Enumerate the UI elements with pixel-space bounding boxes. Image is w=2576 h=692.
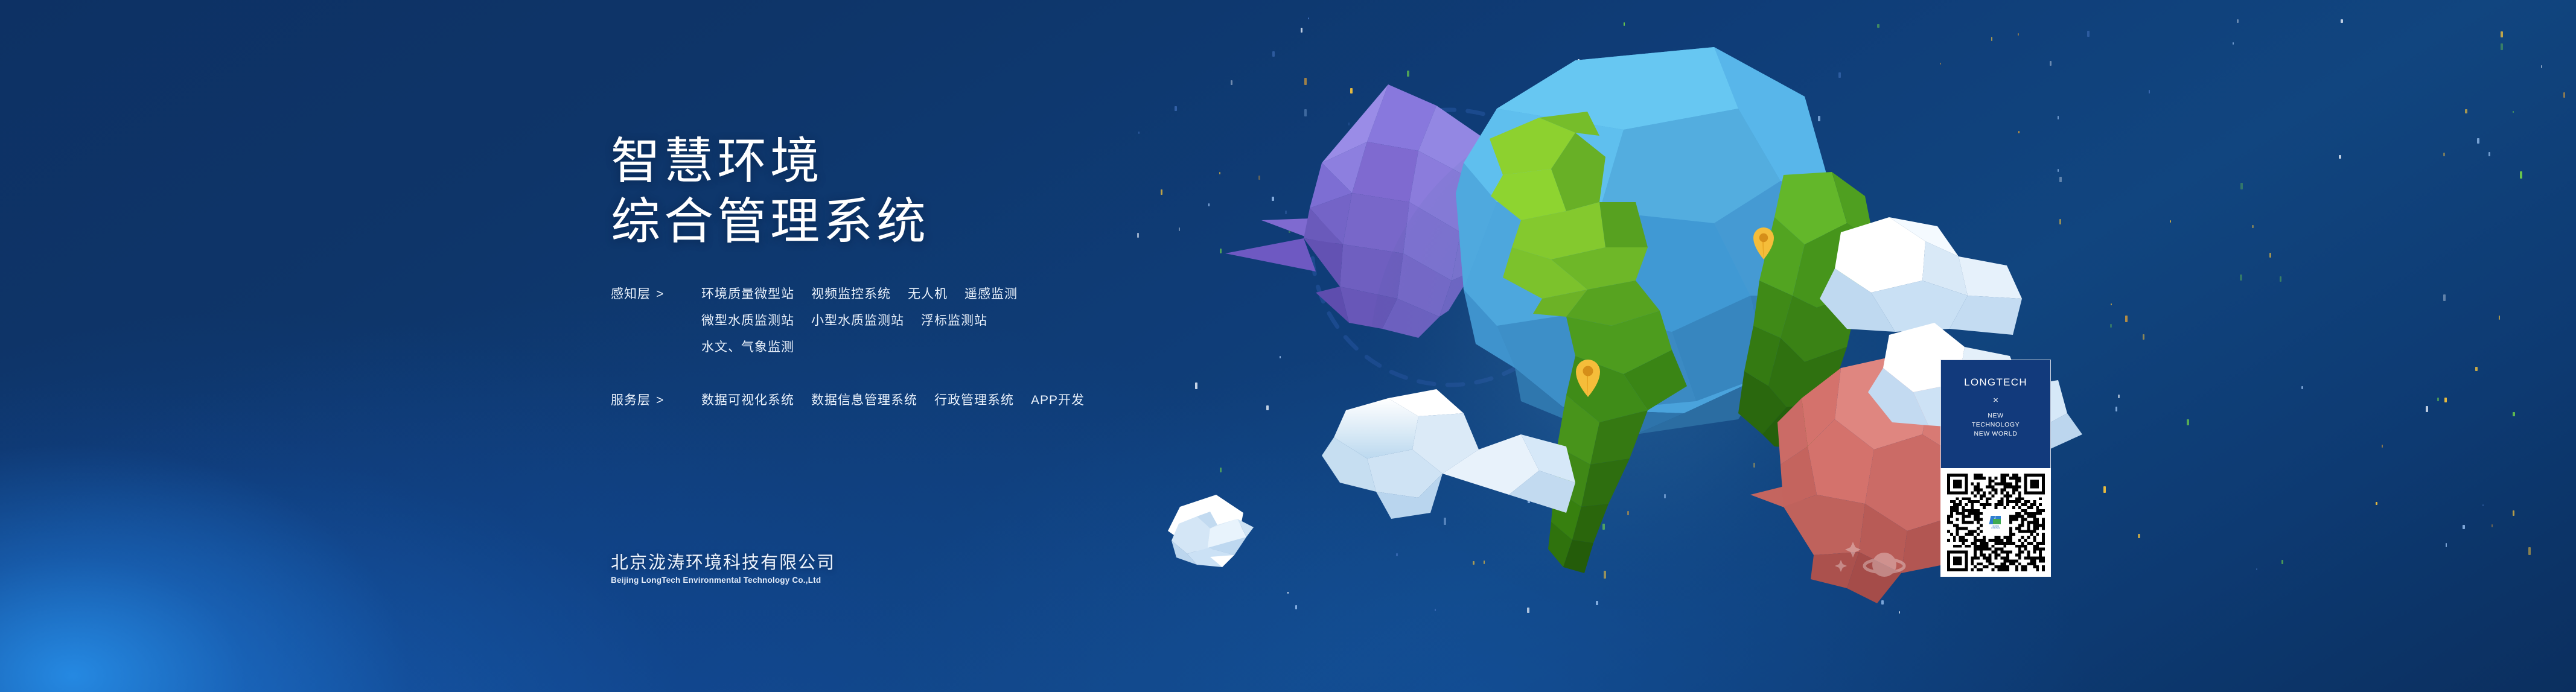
cloud-floating [1150, 500, 1301, 584]
star-particle [2443, 294, 2446, 301]
brand-name: LONGTECH [1964, 376, 2027, 389]
page-title: 智慧环境 综合管理系统 [611, 132, 1456, 252]
qr-code-image[interactable]: 泷涛环境 LONGTECH [1947, 474, 2045, 571]
layer-row: 服务层>数据可视化系统数据信息管理系统行政管理系统APP开发 [611, 391, 1456, 410]
star-particle [1624, 22, 1625, 26]
title-line-2: 综合管理系统 [611, 192, 1456, 252]
layer-item-line: 水文、气象监测 [701, 338, 1018, 357]
title-line-1: 智慧环境 [611, 132, 1456, 192]
star-particle [1991, 37, 1992, 41]
star-particle [2382, 445, 2383, 448]
layer-item[interactable]: 数据信息管理系统 [811, 391, 917, 410]
layer-key-label: 服务层 [611, 393, 651, 407]
star-particle [1308, 17, 1309, 19]
layer-items: 数据可视化系统数据信息管理系统行政管理系统APP开发 [701, 391, 1085, 410]
chevron-right-icon: > [656, 287, 664, 301]
company-name-en: Beijing LongTech Environmental Technolog… [611, 576, 835, 585]
star-particle [1877, 24, 1879, 28]
brand-tagline: NEW TECHNOLOGY NEW WORLD [1972, 411, 2020, 439]
layer-item[interactable]: 环境质量微型站 [701, 285, 794, 304]
qr-card-header: LONGTECH × NEW TECHNOLOGY NEW WORLD [1940, 360, 2051, 468]
layer-item[interactable]: 数据可视化系统 [701, 391, 794, 410]
star-particle [1220, 468, 1222, 472]
star-particle [2240, 275, 2242, 281]
star-particle [2501, 43, 2503, 50]
cloud-right-upper [1820, 217, 2022, 335]
star-particle [2499, 316, 2500, 320]
star-particle [2269, 253, 2271, 258]
star-particle [2477, 138, 2479, 144]
star-particle [2125, 316, 2128, 322]
layer-items: 环境质量微型站视频监控系统无人机遥感监测微型水质监测站小型水质监测站浮标监测站水… [701, 285, 1018, 357]
star-particle [2170, 220, 2171, 223]
star-particle [1940, 63, 1941, 65]
star-particle [2513, 412, 2515, 416]
star-particle [2118, 395, 2120, 398]
layer-item-line: 数据可视化系统数据信息管理系统行政管理系统APP开发 [701, 391, 1085, 410]
star-particle [2446, 543, 2447, 547]
star-particle [2501, 31, 2503, 37]
layer-key: 感知层> [611, 285, 688, 304]
star-particle [2528, 547, 2531, 555]
company-signature: 北京泷涛环境科技有限公司 Beijing LongTech Environmen… [611, 553, 835, 585]
star-particle [2149, 90, 2150, 94]
layer-item[interactable]: 视频监控系统 [811, 285, 891, 304]
star-particle [2111, 303, 2112, 305]
hero-banner: 智慧环境 综合管理系统 感知层>环境质量微型站视频监控系统无人机遥感监测微型水质… [0, 0, 2576, 692]
star-particle [2513, 510, 2514, 516]
star-particle [2426, 406, 2428, 412]
star-particle [2492, 524, 2493, 527]
layer-item[interactable]: 遥感监测 [964, 285, 1018, 304]
star-particle [2463, 525, 2465, 529]
layer-list: 感知层>环境质量微型站视频监控系统无人机遥感监测微型水质监测站小型水质监测站浮标… [611, 285, 1456, 410]
star-particle [2050, 61, 2052, 66]
star-particle [2465, 109, 2467, 113]
star-particle [2280, 276, 2281, 282]
layer-item[interactable]: 无人机 [908, 285, 948, 304]
layer-item[interactable]: 水文、气象监测 [701, 338, 794, 357]
qr-center-logo: 泷涛环境 LONGTECH [1986, 512, 2006, 533]
layer-item[interactable]: 浮标监测站 [921, 311, 987, 331]
qr-code-panel[interactable]: 泷涛环境 LONGTECH [1940, 468, 2051, 577]
star-particle [2488, 152, 2490, 156]
star-particle [2443, 153, 2445, 156]
star-particle [2233, 42, 2234, 45]
star-particle [1231, 80, 1232, 85]
star-particle [2444, 398, 2447, 402]
layer-item[interactable]: APP开发 [1031, 391, 1085, 410]
star-particle [2541, 65, 2542, 68]
star-particle [2187, 419, 2189, 425]
tagline-line-1: NEW [1972, 411, 2020, 421]
star-particle [2087, 31, 2090, 37]
star-particle [2143, 334, 2144, 340]
star-particle [2240, 183, 2243, 189]
tagline-line-2: TECHNOLOGY [1972, 421, 2020, 430]
star-particle [2103, 486, 2106, 493]
star-particle [2256, 568, 2257, 570]
star-particle [2520, 171, 2522, 179]
layer-key-label: 感知层 [611, 287, 651, 301]
layer-key: 服务层> [611, 391, 688, 410]
qr-logo-caption: 泷涛环境 LONGTECH [1991, 525, 2000, 530]
chevron-right-icon: > [656, 393, 664, 407]
star-particle [1175, 106, 1177, 111]
star-particle [1301, 28, 1302, 33]
star-particle [2437, 398, 2439, 401]
star-particle [2563, 92, 2565, 98]
star-particle [2252, 225, 2254, 228]
star-particle [2475, 367, 2478, 371]
layer-item[interactable]: 小型水质监测站 [811, 311, 904, 331]
star-particle [2138, 534, 2140, 538]
layer-item-line: 环境质量微型站视频监控系统无人机遥感监测 [701, 285, 1018, 304]
tagline-line-3: NEW WORLD [1972, 430, 2020, 439]
star-particle [2237, 19, 2239, 23]
layer-item-line: 微型水质监测站小型水质监测站浮标监测站 [701, 311, 1018, 331]
qr-brand-card[interactable]: LONGTECH × NEW TECHNOLOGY NEW WORLD [1940, 360, 2051, 577]
star-particle [1272, 51, 1275, 57]
star-particle [2513, 111, 2514, 113]
star-particle [2301, 386, 2303, 389]
company-name-cn: 北京泷涛环境科技有限公司 [611, 553, 835, 573]
hero-text-block: 智慧环境 综合管理系统 感知层>环境质量微型站视频监控系统无人机遥感监测微型水质… [611, 132, 1456, 410]
star-particle [2341, 19, 2343, 23]
star-particle [2018, 33, 2019, 36]
star-particle [2110, 324, 2112, 328]
star-particle [2376, 502, 2377, 505]
layer-item[interactable]: 行政管理系统 [934, 391, 1014, 410]
longtech-logo-icon [1990, 516, 2001, 524]
star-particle [2281, 560, 2283, 564]
star-particle [2115, 407, 2117, 411]
star-particle [2482, 504, 2484, 506]
star-particle [2339, 155, 2341, 159]
layer-item[interactable]: 微型水质监测站 [701, 311, 794, 331]
layer-row: 感知层>环境质量微型站视频监控系统无人机遥感监测微型水质监测站小型水质监测站浮标… [611, 285, 1456, 357]
cross-icon: × [1993, 396, 1998, 405]
